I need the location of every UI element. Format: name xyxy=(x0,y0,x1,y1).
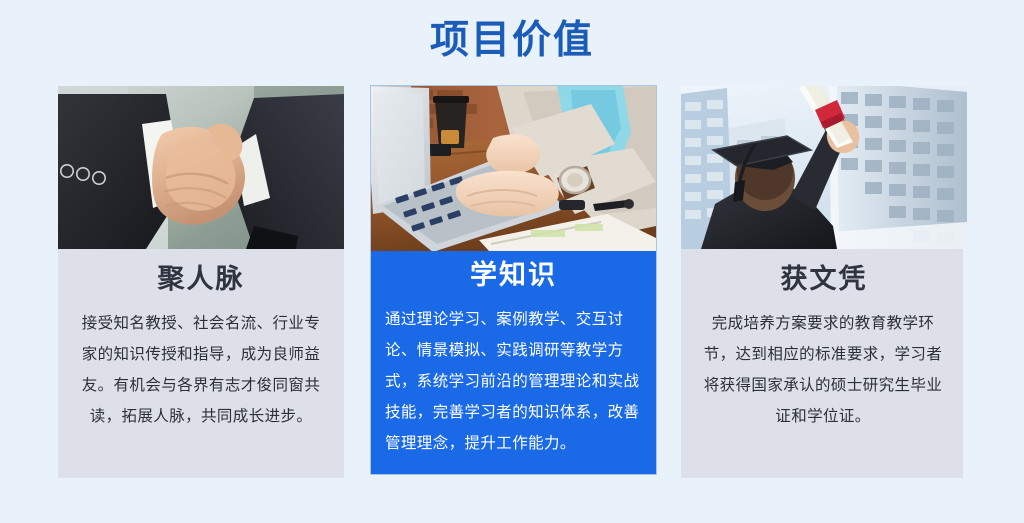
value-cards-row: 聚人脉 接受知名教授、社会名流、行业专家的知识传授和指导，成为良师益友。有机会与… xyxy=(58,86,968,486)
card-heading: 聚人脉 xyxy=(58,262,344,296)
handshake-photo xyxy=(58,86,344,249)
card-body-text: 接受知名教授、社会名流、行业专家的知识传授和指导，成为良师益友。有机会与各界有志… xyxy=(76,308,326,432)
page-title: 项目价值 xyxy=(0,17,1024,65)
graduate-diploma-photo xyxy=(681,86,967,249)
card-heading: 获文凭 xyxy=(681,262,967,296)
laptop-typing-photo xyxy=(371,86,656,251)
card-body-text: 通过理论学习、案例教学、交互讨论、情景模拟、实践调研等教学方式，系统学习前沿的管… xyxy=(385,304,641,459)
card-heading: 学知识 xyxy=(371,258,656,292)
card-body-text: 完成培养方案要求的教育教学环节，达到相应的标准要求，学习者将获得国家承认的硕士研… xyxy=(699,308,947,432)
